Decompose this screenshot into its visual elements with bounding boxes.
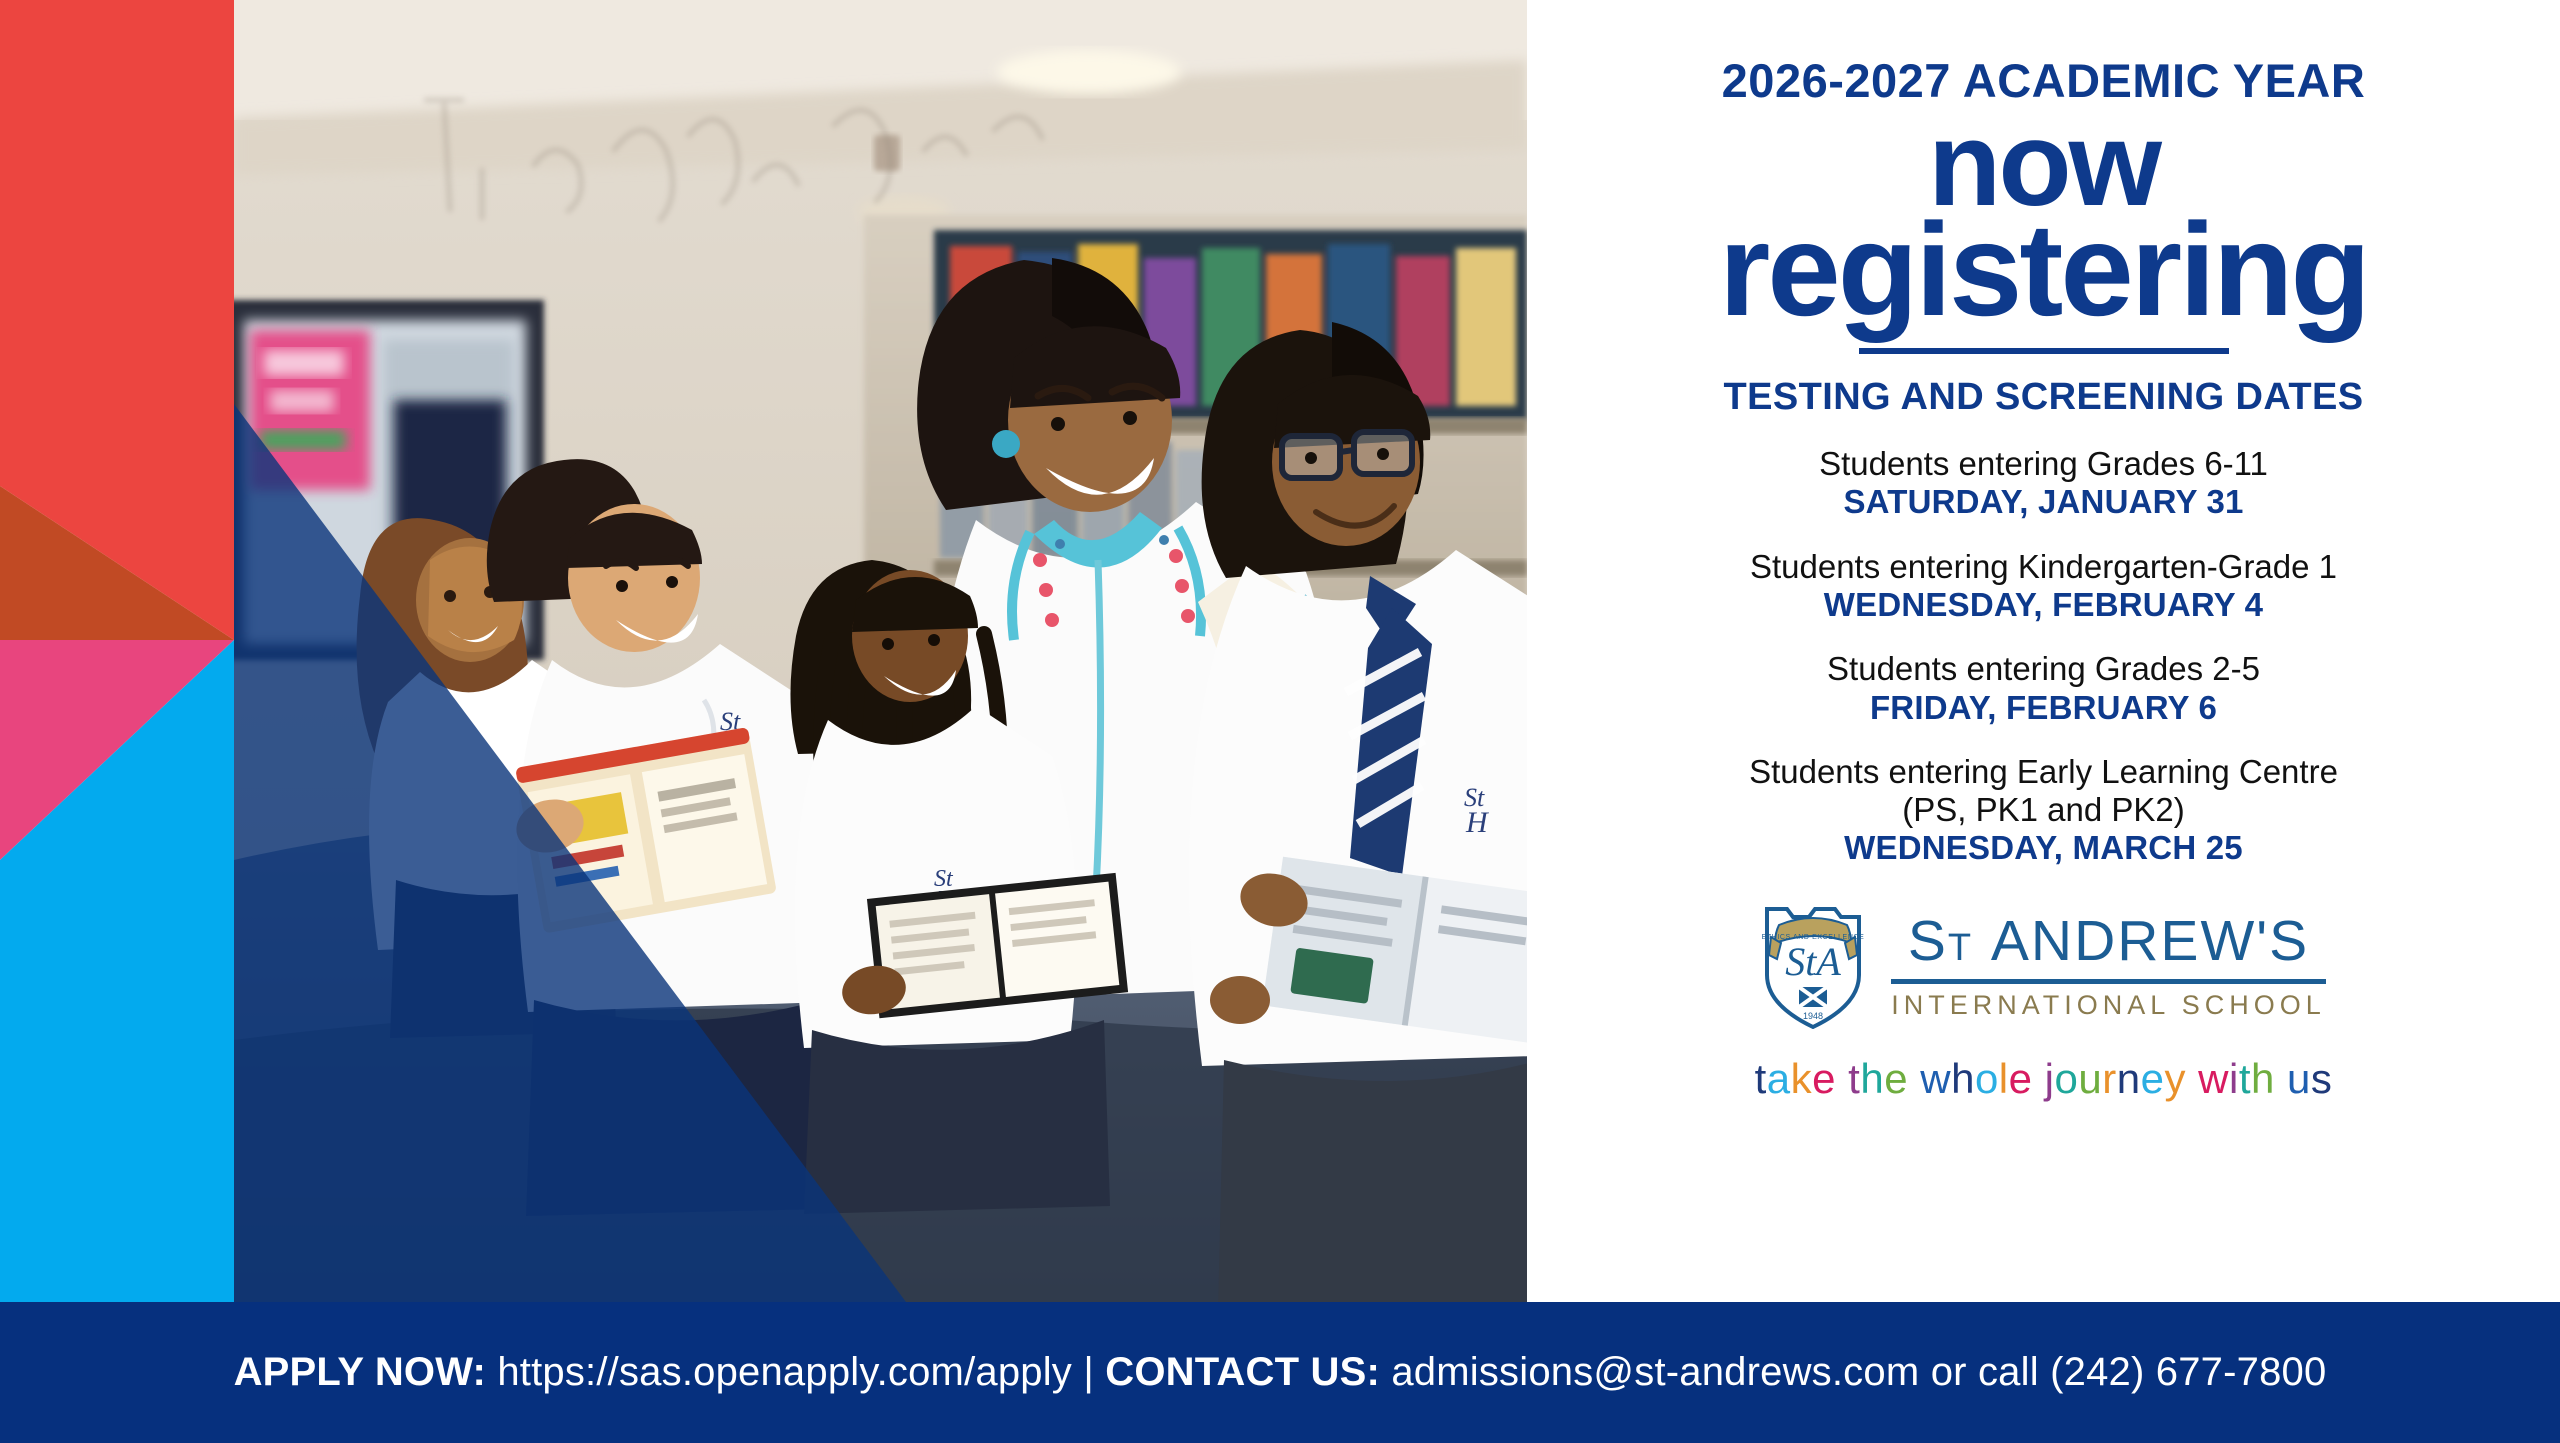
tagline-letter: s xyxy=(2311,1055,2333,1102)
tagline-letter: h xyxy=(1951,1055,1975,1102)
date-group-description: Students entering Early Learning Centre xyxy=(1527,753,2560,790)
date-group-date: FRIDAY, FEBRUARY 6 xyxy=(1527,688,2560,728)
school-name: ST ANDREW'S xyxy=(1908,913,2309,970)
tagline-letter: o xyxy=(2055,1055,2079,1102)
headline-line-registering: registering xyxy=(1719,215,2368,326)
tagline-letter: h xyxy=(1860,1055,1884,1102)
tagline-letter: l xyxy=(1999,1055,2009,1102)
date-group: Students entering Grades 2-5 FRIDAY, FEB… xyxy=(1527,650,2560,727)
date-group-date: WEDNESDAY, FEBRUARY 4 xyxy=(1527,585,2560,625)
wordmark-divider xyxy=(1891,979,2326,984)
testing-dates-section: TESTING AND SCREENING DATES Students ent… xyxy=(1527,376,2560,868)
admissions-poster: St H xyxy=(0,0,2560,1443)
contact-us-label: CONTACT US: xyxy=(1105,1350,1380,1394)
classroom-photo-illustration: St H xyxy=(234,0,1527,1302)
brand-color-wedges xyxy=(0,0,234,1302)
tagline-letter xyxy=(1908,1055,1920,1102)
school-subtitle: INTERNATIONAL SCHOOL xyxy=(1891,992,2326,1019)
svg-text:St H: St H xyxy=(1464,783,1491,839)
tagline-letter: h xyxy=(2251,1055,2275,1102)
date-group-date: WEDNESDAY, MARCH 25 xyxy=(1527,828,2560,868)
tagline-letter: n xyxy=(2117,1055,2141,1102)
date-group-description-secondary: (PS, PK1 and PK2) xyxy=(1527,791,2560,828)
info-panel: 2026-2027 ACADEMIC YEAR now registering … xyxy=(1527,0,2560,1302)
divider-rule xyxy=(1859,348,2229,354)
tagline-letter: e xyxy=(2009,1055,2033,1102)
crest-monogram-text: StA xyxy=(1785,939,1841,984)
date-group: Students entering Grades 6-11 SATURDAY, … xyxy=(1527,445,2560,522)
date-group: Students entering Early Learning Centre … xyxy=(1527,753,2560,867)
tagline-letter: w xyxy=(1920,1055,1951,1102)
school-crest-icon: ETHICS AND EXCELLENCE StA 1948 xyxy=(1761,903,1865,1029)
contact-footer-bar: APPLY NOW: https://sas.openapply.com/app… xyxy=(0,1302,2560,1443)
contact-phone-text: or call (242) 677-7800 xyxy=(1931,1350,2327,1394)
date-group: Students entering Kindergarten-Grade 1 W… xyxy=(1527,548,2560,625)
dates-section-title: TESTING AND SCREENING DATES xyxy=(1527,376,2560,419)
tagline-letter: e xyxy=(1812,1055,1836,1102)
tagline-letter: u xyxy=(2078,1055,2102,1102)
date-group-description: Students entering Grades 2-5 xyxy=(1527,650,2560,687)
tagline-letter: o xyxy=(1975,1055,1999,1102)
date-group-description: Students entering Grades 6-11 xyxy=(1527,445,2560,482)
tagline-letter: a xyxy=(1767,1055,1791,1102)
school-logo-lockup: ETHICS AND EXCELLENCE StA 1948 ST ANDREW… xyxy=(1761,903,2326,1029)
school-tagline: take the whole journey with us xyxy=(1755,1055,2333,1103)
tagline-letter: i xyxy=(2229,1055,2239,1102)
tagline-letter: j xyxy=(2045,1055,2055,1102)
tagline-letter: t xyxy=(1755,1055,1767,1102)
tagline-letter xyxy=(2275,1055,2287,1102)
footer-separator: | xyxy=(1083,1350,1094,1394)
tagline-letter: e xyxy=(2141,1055,2165,1102)
page-title: now registering xyxy=(1719,114,2368,326)
contact-email[interactable]: admissions@st-andrews.com xyxy=(1391,1350,1919,1394)
tagline-letter: w xyxy=(2198,1055,2229,1102)
crest-year-text: 1948 xyxy=(1803,1011,1823,1021)
apply-now-label: APPLY NOW: xyxy=(234,1350,486,1394)
tagline-letter: r xyxy=(2102,1055,2117,1102)
tagline-letter xyxy=(2033,1055,2045,1102)
school-wordmark: ST ANDREW'S INTERNATIONAL SCHOOL xyxy=(1891,913,2326,1019)
tagline-letter: t xyxy=(1848,1055,1860,1102)
tagline-letter xyxy=(2186,1055,2198,1102)
tagline-letter xyxy=(1836,1055,1848,1102)
date-group-description: Students entering Kindergarten-Grade 1 xyxy=(1527,548,2560,585)
tagline-letter: e xyxy=(1884,1055,1908,1102)
footer-contact-text: APPLY NOW: https://sas.openapply.com/app… xyxy=(234,1350,2327,1395)
tagline-letter: t xyxy=(2239,1055,2251,1102)
apply-url[interactable]: https://sas.openapply.com/apply xyxy=(497,1350,1072,1394)
tagline-letter: k xyxy=(1791,1055,1813,1102)
tagline-letter: u xyxy=(2287,1055,2311,1102)
classroom-photo: St H xyxy=(234,0,1527,1302)
tagline-letter: y xyxy=(2164,1055,2186,1102)
date-group-date: SATURDAY, JANUARY 31 xyxy=(1527,482,2560,522)
